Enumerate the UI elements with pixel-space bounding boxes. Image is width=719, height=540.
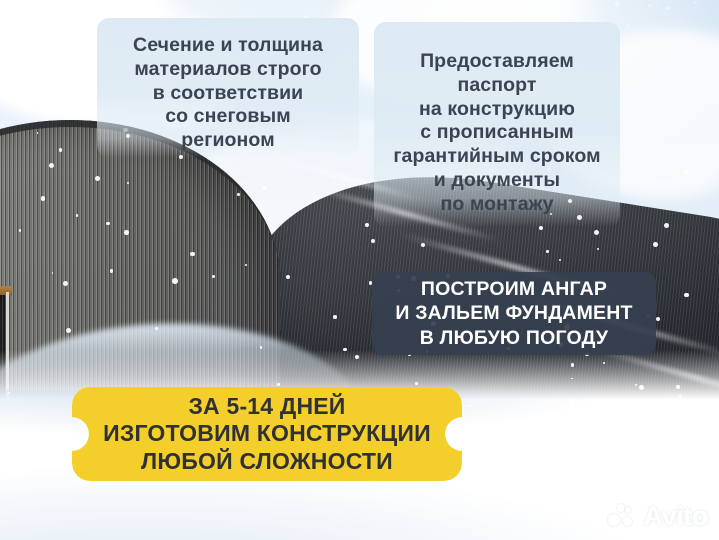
banner-dark-line: И ЗАЛЬЕМ ФУНДАМЕНТ (395, 301, 632, 326)
panel-2-line: по монтажу (374, 193, 620, 217)
panel-1-line: в соответствии (97, 82, 359, 106)
banner-build-any-weather: ПОСТРОИМ АНГАР И ЗАЛЬЕМ ФУНДАМЕНТ В ЛЮБУ… (372, 272, 656, 355)
info-panel-passport: Предоставляем паспорт на конструкцию с п… (374, 22, 620, 227)
banner-dark-line: В ЛЮБУЮ ПОГОДУ (395, 326, 632, 351)
banner-dark-lines: ПОСТРОИМ АНГАР И ЗАЛЬЕМ ФУНДАМЕНТ В ЛЮБУ… (395, 277, 632, 351)
panel-2-line: и документы (374, 169, 620, 193)
panel-2-line: паспорт (374, 74, 620, 98)
banner-yellow-line: ИЗГОТОВИМ КОНСТРУКЦИИ (103, 420, 431, 447)
banner-delivery-time: ЗА 5-14 ДНЕЙ ИЗГОТОВИМ КОНСТРУКЦИИ ЛЮБОЙ… (72, 387, 462, 481)
panel-2-line: на конструкцию (374, 98, 620, 122)
banner-dark-line: ПОСТРОИМ АНГАР (395, 277, 632, 302)
banner-yellow-line: ЛЮБОЙ СЛОЖНОСТИ (103, 448, 431, 475)
info-panel-materials: Сечение и толщина материалов строго в со… (97, 18, 359, 158)
panel-1-line: материалов строго (97, 58, 359, 82)
advertisement-image: Сечение и толщина материалов строго в со… (0, 0, 719, 540)
avito-watermark: Avito (608, 503, 709, 530)
banner-yellow-lines: ЗА 5-14 ДНЕЙ ИЗГОТОВИМ КОНСТРУКЦИИ ЛЮБОЙ… (77, 393, 457, 474)
avito-dots-icon (608, 504, 638, 530)
panel-2-line: гарантийным сроком (374, 145, 620, 169)
panel-1-line: регионом (97, 129, 359, 153)
panel-2-line: с прописанным (374, 121, 620, 145)
avito-wordmark: Avito (644, 503, 709, 530)
banner-yellow-line: ЗА 5-14 ДНЕЙ (103, 393, 431, 420)
panel-1-line: Сечение и толщина (97, 34, 359, 58)
panel-2-line: Предоставляем (374, 50, 620, 74)
panel-1-line: со снеговым (97, 105, 359, 129)
